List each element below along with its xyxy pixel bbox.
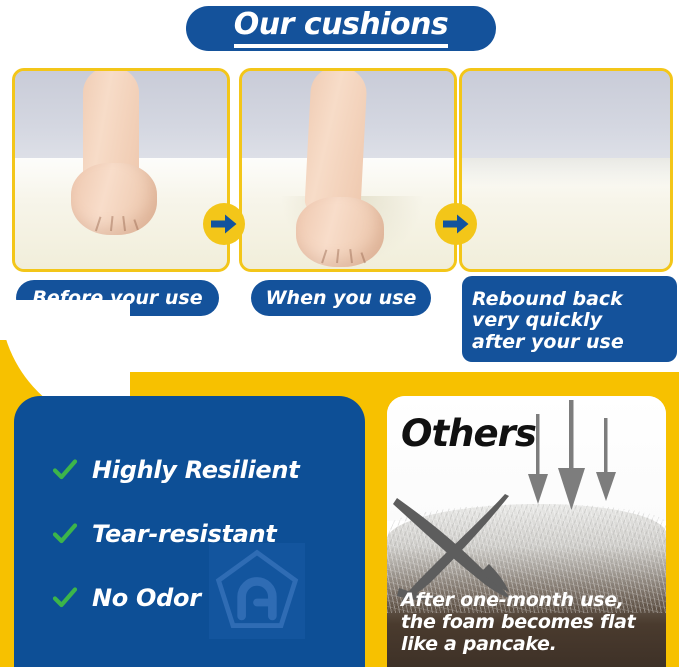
caption-line: after your use [472, 332, 624, 353]
forearm [304, 68, 368, 216]
others-title: Others [401, 412, 536, 455]
others-caption-line: like a pancake. [401, 633, 658, 655]
scene-rebounded [462, 71, 670, 269]
check-icon [52, 457, 78, 483]
foam-block-flat [462, 158, 670, 269]
demo-photo-step-1 [12, 68, 230, 272]
others-caption: After one-month use, the foam becomes fl… [401, 589, 658, 655]
check-icon [52, 521, 78, 547]
caption-line: Rebound back [472, 289, 623, 310]
feature-label: No Odor [92, 584, 201, 612]
features-list: Highly Resilient Tear-resistant No Odor [52, 438, 355, 630]
fist [71, 163, 157, 235]
arrow-right-icon [435, 203, 477, 245]
feature-item: Highly Resilient [52, 438, 355, 502]
scene-backdrop [462, 71, 670, 164]
fist [296, 197, 384, 267]
knuckle-lines [71, 206, 157, 230]
others-caption-line: After one-month use, [401, 589, 658, 611]
page-title: Our cushions [234, 10, 449, 48]
others-caption-line: the foam becomes flat [401, 611, 658, 633]
demo-photo-step-3 [459, 68, 673, 272]
scene-when-using [242, 71, 454, 269]
features-panel: Highly Resilient Tear-resistant No Odor [14, 396, 365, 667]
others-comparison-card: Others After one-month use, the foam bec… [387, 396, 666, 667]
demo-caption-step-3: Rebound back very quickly after your use [462, 276, 677, 362]
arrow-right-icon [203, 203, 245, 245]
pentagon-logo-icon [209, 543, 305, 639]
feature-item: Tear-resistant [52, 502, 355, 566]
caption-text: When you use [266, 287, 417, 309]
caption-line: very quickly [472, 310, 602, 331]
x-brush-mark-icon [389, 492, 539, 604]
demo-photo-strip [0, 68, 679, 266]
check-icon [52, 585, 78, 611]
demo-photo-step-2 [239, 68, 457, 272]
demo-caption-step-2: When you use [251, 280, 431, 316]
scene-before-use [15, 71, 227, 269]
feature-item: No Odor [52, 566, 355, 630]
feature-label: Highly Resilient [92, 456, 299, 484]
knuckle-lines [296, 239, 384, 263]
header-banner: Our cushions [186, 6, 496, 51]
